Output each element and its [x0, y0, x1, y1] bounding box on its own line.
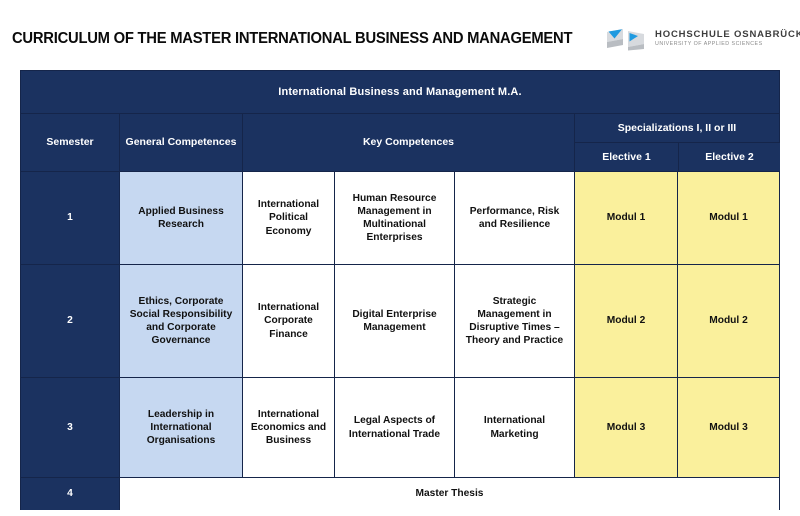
- semester-number: 1: [21, 172, 119, 264]
- program-title-cell: International Business and Management M.…: [21, 71, 779, 113]
- column-header-general-competences: General Competences: [119, 114, 242, 171]
- table-row: 1 Applied Business Research Internationa…: [21, 172, 779, 265]
- key-competence-cell: International Economics and Business: [242, 378, 334, 477]
- key-competence-cell: International Marketing: [454, 378, 574, 477]
- general-competence-cell: Leadership in International Organisation…: [119, 378, 242, 477]
- column-header-semester: Semester: [21, 114, 119, 171]
- semester-number: 2: [21, 265, 119, 377]
- table-row: 4 Master Thesis: [21, 478, 779, 510]
- key-competence-cell: Legal Aspects of International Trade: [334, 378, 454, 477]
- elective-1-cell: Modul 1: [574, 172, 677, 264]
- general-competence-cell: Ethics, Corporate Social Responsibility …: [119, 265, 242, 377]
- general-competence-cell: Applied Business Research: [119, 172, 242, 264]
- column-header-specializations-group: Specializations I, II or III Elective 1 …: [574, 114, 779, 171]
- master-thesis-cell: Master Thesis: [119, 478, 779, 510]
- key-competence-cell: Strategic Management in Disruptive Times…: [454, 265, 574, 377]
- column-header-elective-1: Elective 1: [575, 143, 678, 171]
- logo-tagline: UNIVERSITY OF APPLIED SCIENCES: [655, 42, 800, 48]
- table-program-title-row: International Business and Management M.…: [21, 71, 779, 114]
- logo-arrows-icon: [605, 26, 647, 52]
- semester-number: 4: [21, 478, 119, 510]
- logo-institution-name: HOCHSCHULE OSNABRÜCK: [655, 30, 800, 40]
- elective-2-cell: Modul 2: [677, 265, 779, 377]
- elective-1-cell: Modul 3: [574, 378, 677, 477]
- key-competence-cell: International Corporate Finance: [242, 265, 334, 377]
- column-header-key-competences: Key Competences: [242, 114, 574, 171]
- key-competence-cell: Digital Enterprise Management: [334, 265, 454, 377]
- curriculum-table: International Business and Management M.…: [20, 70, 780, 510]
- table-header-row: Semester General Competences Key Compete…: [21, 114, 779, 172]
- key-competence-cell: Human Resource Management in Multination…: [334, 172, 454, 264]
- semester-number: 3: [21, 378, 119, 477]
- table-row: 3 Leadership in International Organisati…: [21, 378, 779, 478]
- key-competence-cell: Performance, Risk and Resilience: [454, 172, 574, 264]
- elective-1-cell: Modul 2: [574, 265, 677, 377]
- elective-2-cell: Modul 3: [677, 378, 779, 477]
- column-header-elective-2: Elective 2: [678, 143, 780, 171]
- curriculum-page: CURRICULUM OF THE MASTER INTERNATIONAL B…: [0, 0, 800, 516]
- elective-2-cell: Modul 1: [677, 172, 779, 264]
- table-row: 2 Ethics, Corporate Social Responsibilit…: [21, 265, 779, 378]
- hochschule-osnabrueck-logo: HOCHSCHULE OSNABRÜCK UNIVERSITY OF APPLI…: [605, 26, 800, 52]
- page-title: CURRICULUM OF THE MASTER INTERNATIONAL B…: [12, 30, 572, 48]
- page-header: CURRICULUM OF THE MASTER INTERNATIONAL B…: [0, 0, 800, 70]
- key-competence-cell: International Political Economy: [242, 172, 334, 264]
- column-header-specializations: Specializations I, II or III: [575, 114, 779, 142]
